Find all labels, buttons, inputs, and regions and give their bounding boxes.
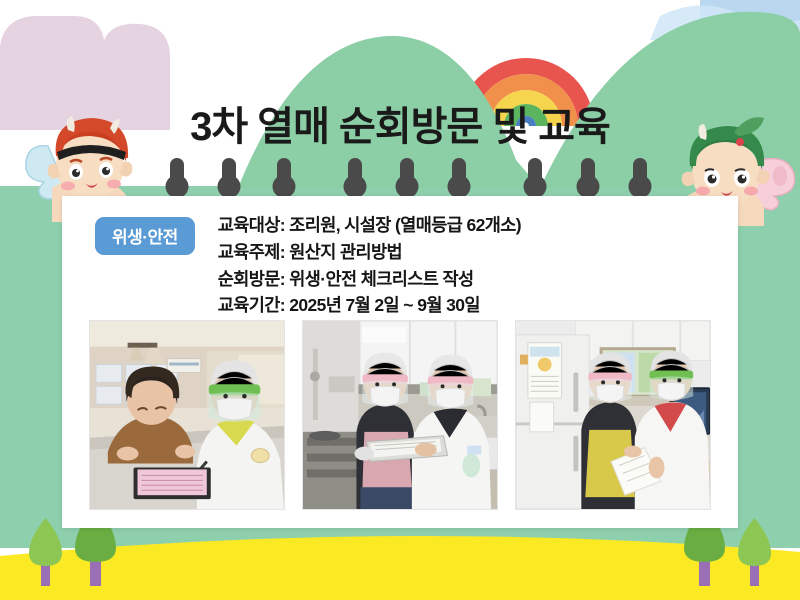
info-line-visit: 순회방문: 위생·안전 체크리스트 작성: [218, 266, 738, 293]
pin-marker: [400, 158, 414, 184]
info-line-period: 교육기간: 2025년 7월 2일 ~ 9월 30일: [218, 292, 738, 319]
info-line-subject: 교육주제: 원산지 관리방법: [218, 239, 738, 266]
pin-marker: [452, 158, 466, 184]
pin-marker: [222, 158, 236, 184]
info-line-list: 교육대상: 조리원, 시설장 (열매등급 62개소) 교육주제: 원산지 관리방…: [218, 210, 738, 319]
poster-root: 3차 열매 순회방문 및 교육: [0, 0, 800, 600]
pin-marker: [528, 158, 542, 184]
pin-marker: [581, 158, 595, 184]
photo-kitchen-checklist: [302, 320, 498, 510]
status-badge: 위생·안전: [95, 217, 195, 255]
photo-strip: [62, 320, 738, 516]
pin-marker: [348, 158, 362, 184]
photo-consultation-desk: [89, 320, 285, 510]
info-area: 위생·안전 교육대상: 조리원, 시설장 (열매등급 62개소) 교육주제: 원…: [62, 210, 738, 319]
photo-kitchen-review: [515, 320, 711, 510]
info-line-target: 교육대상: 조리원, 시설장 (열매등급 62개소): [218, 212, 738, 239]
pin-marker: [170, 158, 184, 184]
page-title: 3차 열매 순회방문 및 교육: [0, 94, 800, 152]
pin-marker: [633, 158, 647, 184]
pin-marker: [277, 158, 291, 184]
